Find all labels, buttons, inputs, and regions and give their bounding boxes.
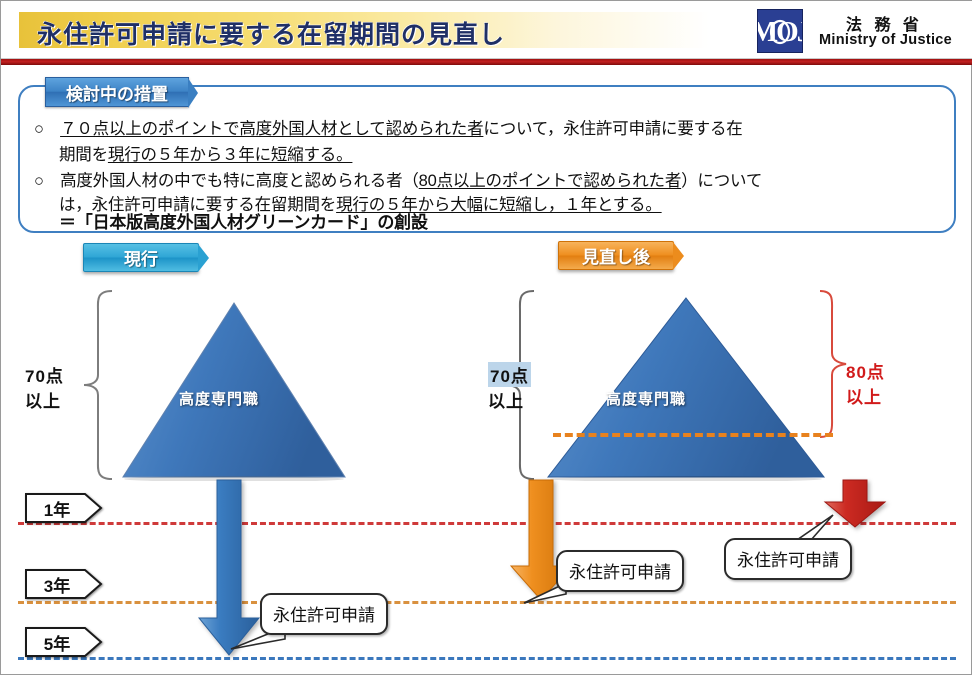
left-brace-70-points — [76, 289, 116, 481]
pyramid-80-point-split-line — [553, 433, 833, 437]
score-left-line1: 70点 — [25, 362, 64, 387]
score-label-80-points: 80点 以上 — [846, 358, 885, 408]
score-left-line2: 以上 — [25, 387, 64, 412]
year-marker-5: 5年 — [25, 627, 103, 657]
threshold-line-3year — [18, 601, 956, 604]
measures-label-text: 検討中の措置 — [45, 77, 189, 107]
callout-2-text: 永住許可申請 — [556, 550, 684, 592]
slide-header: 永住許可申請に要する在留期間の見直し MOJ 法 務 省 Ministry of… — [1, 1, 972, 59]
year-marker-3-label: 3年 — [25, 569, 89, 599]
year-marker-1-label: 1年 — [25, 493, 89, 523]
year-marker-3: 3年 — [25, 569, 103, 599]
measure-line-1-underlined: ７０点以上のポイントで高度外国人材として認められた者 — [60, 120, 483, 138]
callout-1-text: 永住許可申請 — [260, 593, 388, 635]
pyramid-current-label: 高度専門職 — [179, 388, 259, 409]
measures-label-chip: 検討中の措置 — [45, 77, 189, 107]
header-red-divider — [1, 59, 972, 65]
measure-line-2: 期間を現行の５年から３年に短縮する。 — [59, 141, 352, 165]
page-title: 永住許可申請に要する在留期間の見直し — [37, 15, 505, 51]
callout-3-text: 永住許可申請 — [724, 538, 852, 580]
year-marker-5-label: 5年 — [25, 627, 89, 657]
ministry-name-en: Ministry of Justice — [819, 32, 952, 48]
callout-permanent-residence-1: 永住許可申請 — [260, 593, 388, 635]
pyramid-revised-label: 高度専門職 — [606, 388, 686, 409]
measure-line-5: ＝「日本版高度外国人材グリーンカード」の創設 — [59, 208, 428, 233]
threshold-line-5year — [18, 657, 956, 660]
measure-line-1: ○ ７０点以上のポイントで高度外国人材として認められた者について，永住許可申請に… — [34, 115, 743, 139]
moj-logo-icon: MOJ — [757, 9, 803, 53]
slide-root: 永住許可申請に要する在留期間の見直し MOJ 法 務 省 Ministry of… — [0, 0, 972, 675]
score-80-line2: 以上 — [846, 383, 885, 408]
score-right-inner-line2: 以上 — [488, 387, 531, 412]
score-right-inner-line1: 70点 — [488, 362, 531, 387]
score-label-left: 70点 以上 — [25, 362, 64, 412]
callout-permanent-residence-2: 永住許可申請 — [556, 550, 684, 592]
tab-current-system[interactable]: 現行 — [83, 243, 199, 272]
callout-permanent-residence-3: 永住許可申請 — [724, 538, 852, 580]
tab-after-revision[interactable]: 見直し後 — [558, 241, 674, 270]
score-label-right-inner: 70点 以上 — [488, 362, 531, 412]
year-marker-1: 1年 — [25, 493, 103, 523]
tab-revised-label: 見直し後 — [558, 241, 674, 270]
tab-current-label: 現行 — [83, 243, 199, 272]
score-80-line1: 80点 — [846, 358, 885, 383]
measure-line-3: ○ 高度外国人材の中でも特に高度と認められる者（80点以上のポイントで認められた… — [34, 167, 762, 191]
